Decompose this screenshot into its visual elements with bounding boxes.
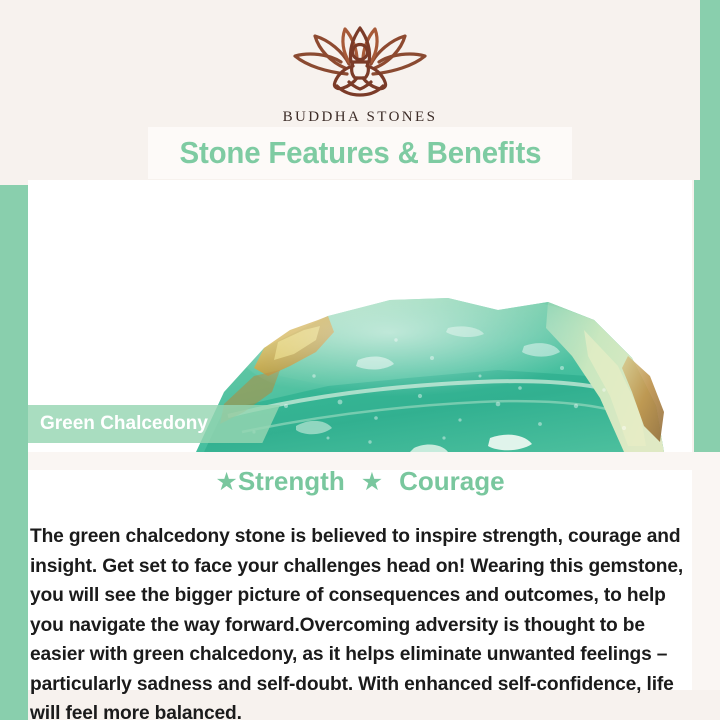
brand-name: BUDDHA STONES (0, 109, 720, 126)
description-paragraph: The green chalcedony stone is believed t… (30, 522, 694, 720)
star-icon-strength: ★ (215, 467, 237, 497)
headline-banner: Stone Features & Benefits (148, 127, 572, 179)
stone-name-tag: Green Chalcedony (28, 405, 280, 443)
stone-name-label: Green Chalcedony (40, 413, 208, 435)
lotus-meditation-icon (0, 22, 720, 105)
brand-logo: BUDDHA STONES (0, 22, 720, 126)
accent-band-left (0, 185, 28, 720)
keyword-courage: Courage (399, 466, 504, 497)
keyword-strength: Strength (238, 466, 345, 497)
keyword-heading-row: ★Strength★Courage (28, 466, 692, 497)
star-icon-courage: ★ (361, 467, 383, 497)
infographic-page: BUDDHA STONES Stone Features & Benefits (0, 0, 720, 720)
page-title: Stone Features & Benefits (179, 135, 541, 171)
